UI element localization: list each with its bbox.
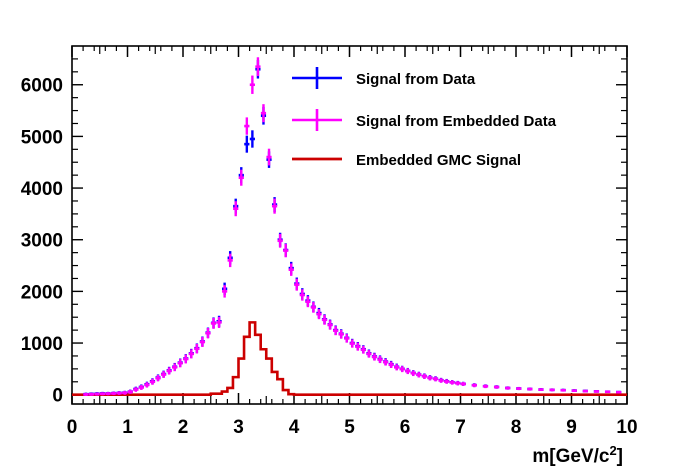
- x-tick-label: 2: [178, 417, 189, 438]
- x-tick-label: 3: [233, 417, 244, 438]
- x-tick-label: 0: [67, 417, 78, 438]
- legend-label-1: Signal from Data: [356, 71, 476, 88]
- legend-label-3: Embedded GMC Signal: [356, 152, 521, 169]
- x-tick-label: 8: [511, 417, 522, 438]
- y-tick-label: 0: [52, 386, 63, 407]
- x-tick-label: 9: [566, 417, 577, 438]
- x-tick-label: 1: [122, 417, 133, 438]
- plot-canvas: 012345678910 0100020003000400050006000 S…: [0, 0, 696, 472]
- y-tick-label: 2000: [21, 282, 63, 303]
- x-tick-label: 6: [400, 417, 411, 438]
- y-tick-label: 5000: [21, 127, 63, 148]
- y-tick-label: 1000: [21, 334, 63, 355]
- legend-label-2: Signal from Embedded Data: [356, 113, 557, 130]
- y-tick-label: 3000: [21, 231, 63, 252]
- y-tick-label: 6000: [21, 76, 63, 97]
- x-tick-label: 10: [616, 417, 637, 438]
- x-axis-title: m[GeV/c2]: [532, 443, 623, 467]
- figure-background: [0, 0, 696, 472]
- x-tick-label: 5: [344, 417, 355, 438]
- y-tick-label: 4000: [21, 179, 63, 200]
- x-tick-label: 4: [289, 417, 300, 438]
- chart-figure: 012345678910 0100020003000400050006000 S…: [0, 0, 696, 472]
- x-tick-label: 7: [455, 417, 466, 438]
